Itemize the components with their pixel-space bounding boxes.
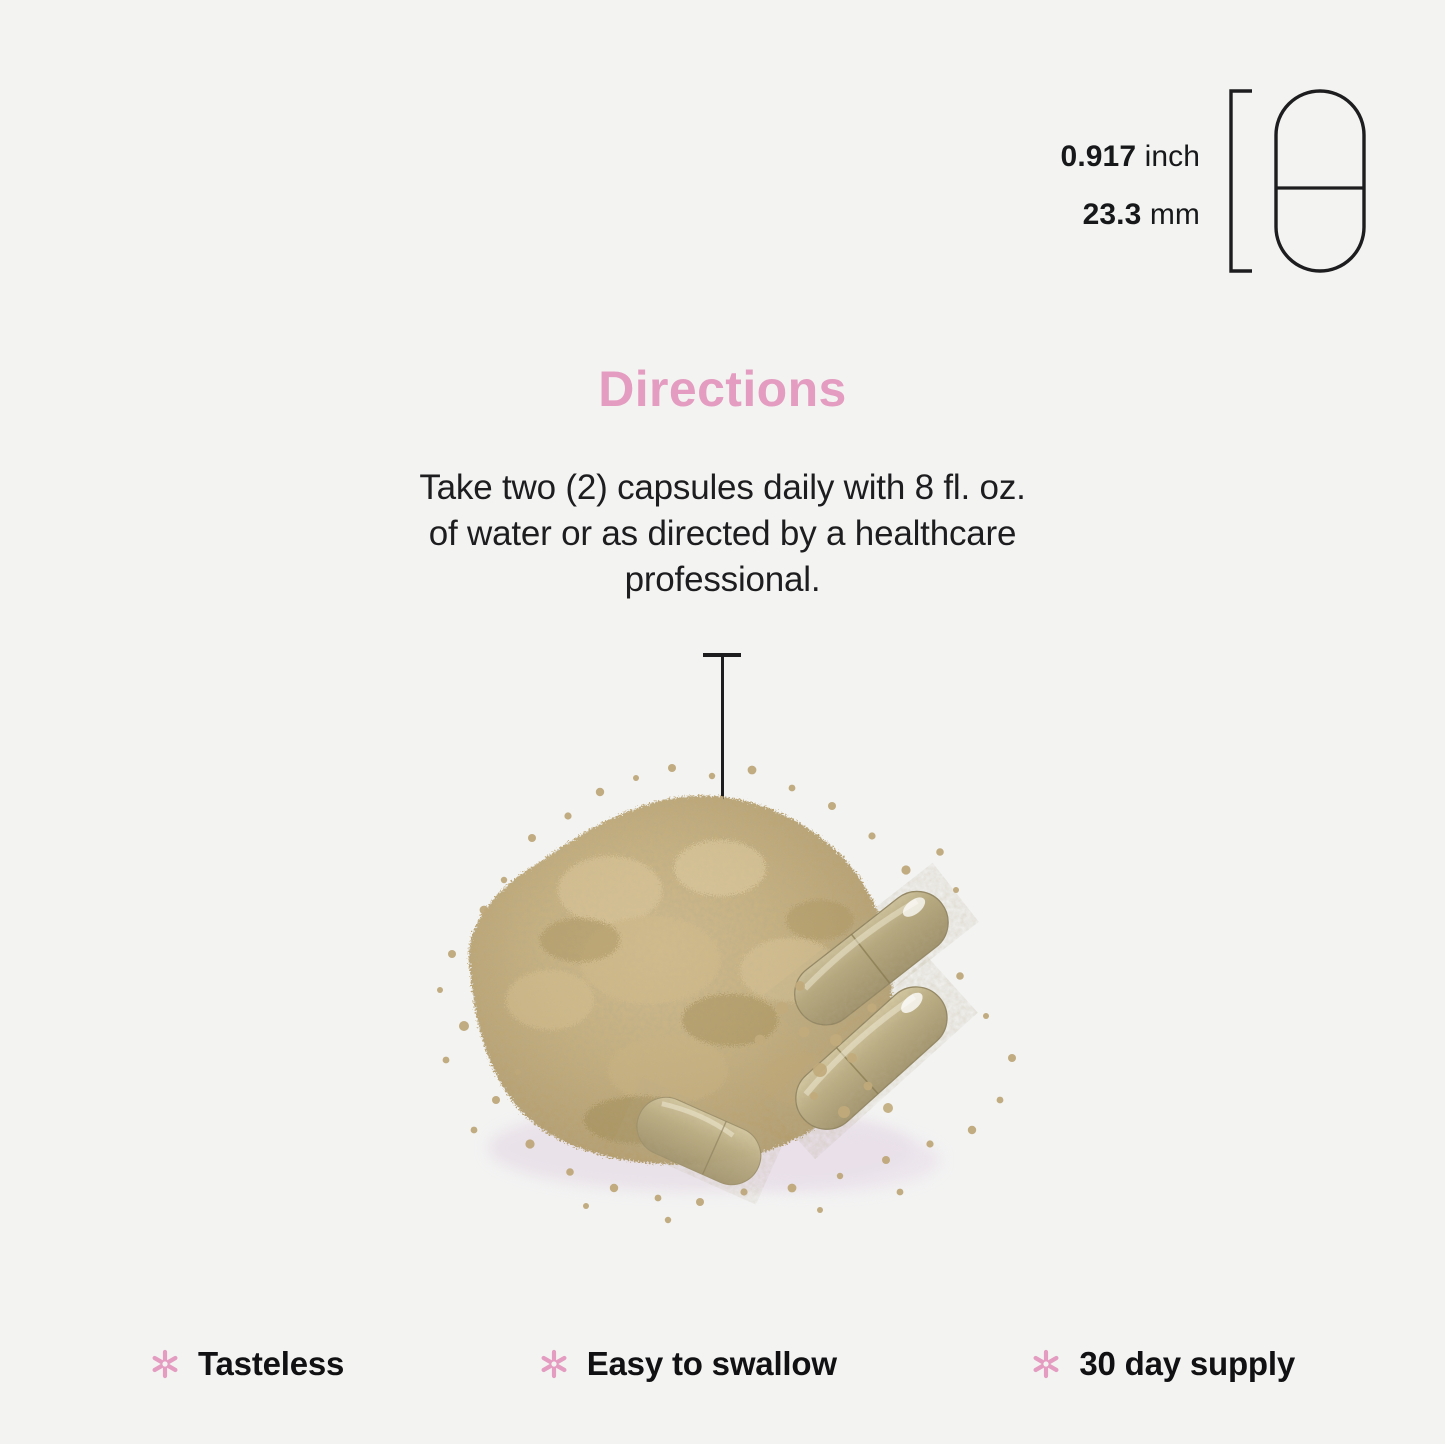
size-mm-line: 23.3 mm [1000,186,1200,244]
product-detail-panel: 0.917 inch 23.3 mm Directions Take two (… [0,0,1445,1444]
directions-section: Directions Take two (2) capsules daily w… [0,362,1445,603]
directions-body-line-3: professional. [0,557,1445,603]
directions-body-line-2: of water or as directed by a healthcare [0,511,1445,557]
directions-heading: Directions [0,362,1445,417]
size-inch-unit [1136,140,1144,173]
capsule-outline-icon [1272,87,1368,275]
feature-label-easy-to-swallow: Easy to swallow [587,1345,837,1383]
asterisk-sparkle-icon [1031,1349,1061,1379]
powder-and-capsules-image [400,740,1060,1240]
asterisk-sparkle-icon [150,1349,180,1379]
size-inch-line: 0.917 inch [1000,128,1200,186]
feature-item-tasteless: Tasteless [150,1345,344,1383]
feature-label-tasteless: Tasteless [198,1345,344,1383]
size-inch-value: 0.917 [1061,140,1137,173]
product-photo [400,740,1060,1240]
asterisk-sparkle-icon [539,1349,569,1379]
size-inch-unit-label: inch [1145,140,1200,173]
size-mm-unit-label: mm [1150,198,1200,231]
size-measurement-labels: 0.917 inch 23.3 mm [1000,128,1200,244]
directions-body-line-1: Take two (2) capsules daily with 8 fl. o… [0,465,1445,511]
capsule-size-spec: 0.917 inch 23.3 mm [1000,80,1380,280]
feature-item-easy-to-swallow: Easy to swallow [539,1345,837,1383]
feature-item-30-day-supply: 30 day supply [1031,1345,1295,1383]
feature-list: Tasteless Easy to swallow [150,1345,1295,1383]
directions-body: Take two (2) capsules daily with 8 fl. o… [0,417,1445,603]
measurement-bracket-icon [1228,89,1254,273]
size-mm-value: 23.3 [1083,198,1142,231]
feature-label-30-day-supply: 30 day supply [1079,1345,1295,1383]
size-mm-spacer [1141,198,1149,231]
